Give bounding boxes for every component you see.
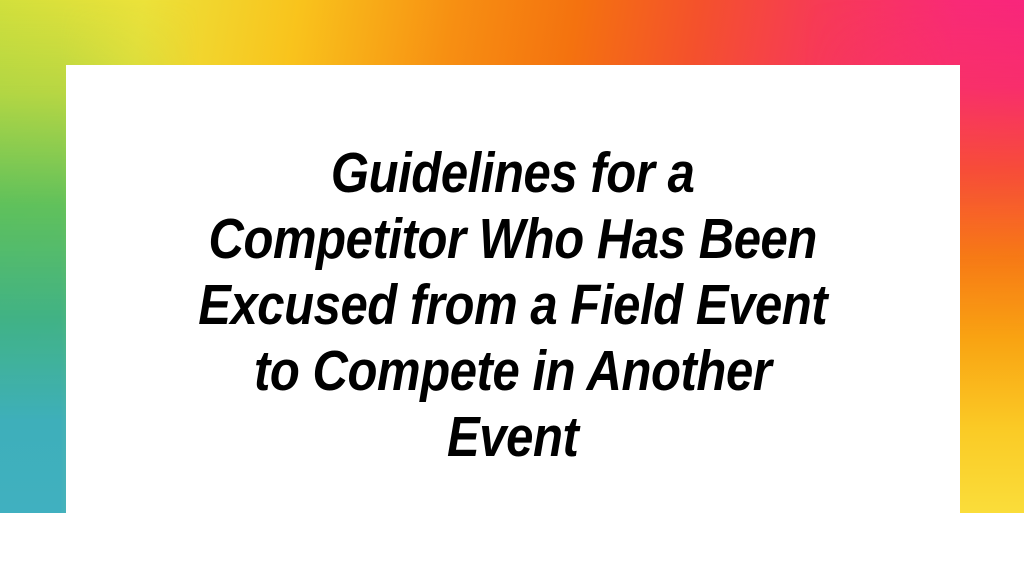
- presentation-slide: Guidelines for a Competitor Who Has Been…: [0, 0, 1024, 576]
- title-container: Guidelines for a Competitor Who Has Been…: [66, 65, 960, 513]
- slide-title: Guidelines for a Competitor Who Has Been…: [198, 140, 827, 470]
